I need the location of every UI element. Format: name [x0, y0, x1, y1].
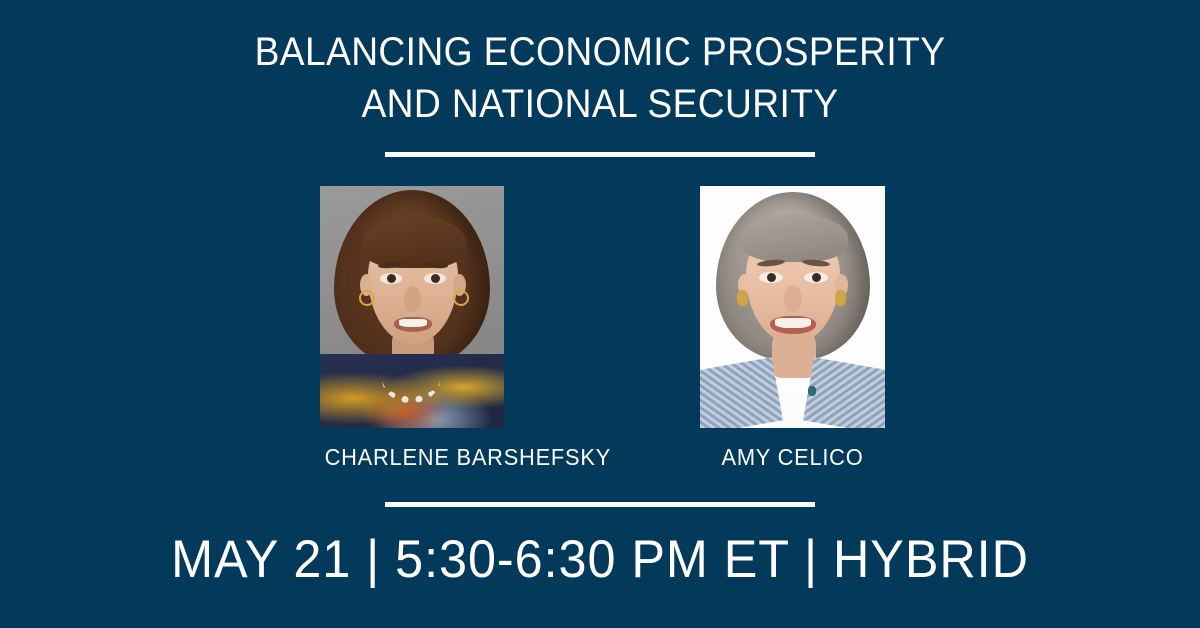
speaker-name-label: CHARLENE BARSHEFSKY: [325, 444, 500, 471]
earring-left: [737, 290, 748, 306]
pupil-left: [387, 274, 396, 283]
speaker-charlene-barshefsky: CHARLENE BARSHEFSKY: [320, 186, 504, 471]
pearl-necklace: [382, 356, 440, 403]
teeth-shape: [775, 318, 811, 328]
pupil-left: [767, 273, 776, 282]
nose-shape: [404, 286, 421, 312]
divider-bottom: [385, 502, 815, 507]
earring-left: [359, 290, 375, 306]
pupil-right: [431, 274, 440, 283]
event-details-line: MAY 21 | 5:30-6:30 PM ET | HYBRID: [30, 528, 1170, 592]
event-promo-card: BALANCING ECONOMIC PROSPERITY AND NATION…: [0, 0, 1200, 628]
divider-top: [385, 152, 815, 157]
hair-fringe-shape: [362, 216, 466, 268]
speaker-photo-amy-celico: [700, 186, 885, 428]
speaker-list: CHARLENE BARSHEFSKY: [0, 186, 1200, 486]
blazer-left: [700, 357, 783, 428]
teeth-shape: [399, 319, 427, 327]
pupil-right: [812, 273, 821, 282]
earring-right: [835, 290, 846, 306]
hair-fringe-shape: [740, 214, 848, 262]
portrait-image-amy: [700, 186, 885, 428]
portrait-image-charlene: [320, 186, 504, 428]
event-title-line-2: AND NATIONAL SECURITY: [42, 78, 1158, 130]
earring-right: [453, 290, 469, 306]
event-title: BALANCING ECONOMIC PROSPERITY AND NATION…: [0, 26, 1200, 130]
speaker-name-label: AMY CELICO: [705, 444, 881, 471]
nose-shape: [784, 285, 802, 312]
speaker-amy-celico: AMY CELICO: [700, 186, 885, 471]
necklace-pendant: [808, 386, 816, 396]
event-title-line-1: BALANCING ECONOMIC PROSPERITY: [42, 26, 1158, 78]
speaker-photo-charlene-barshefsky: [320, 186, 504, 428]
